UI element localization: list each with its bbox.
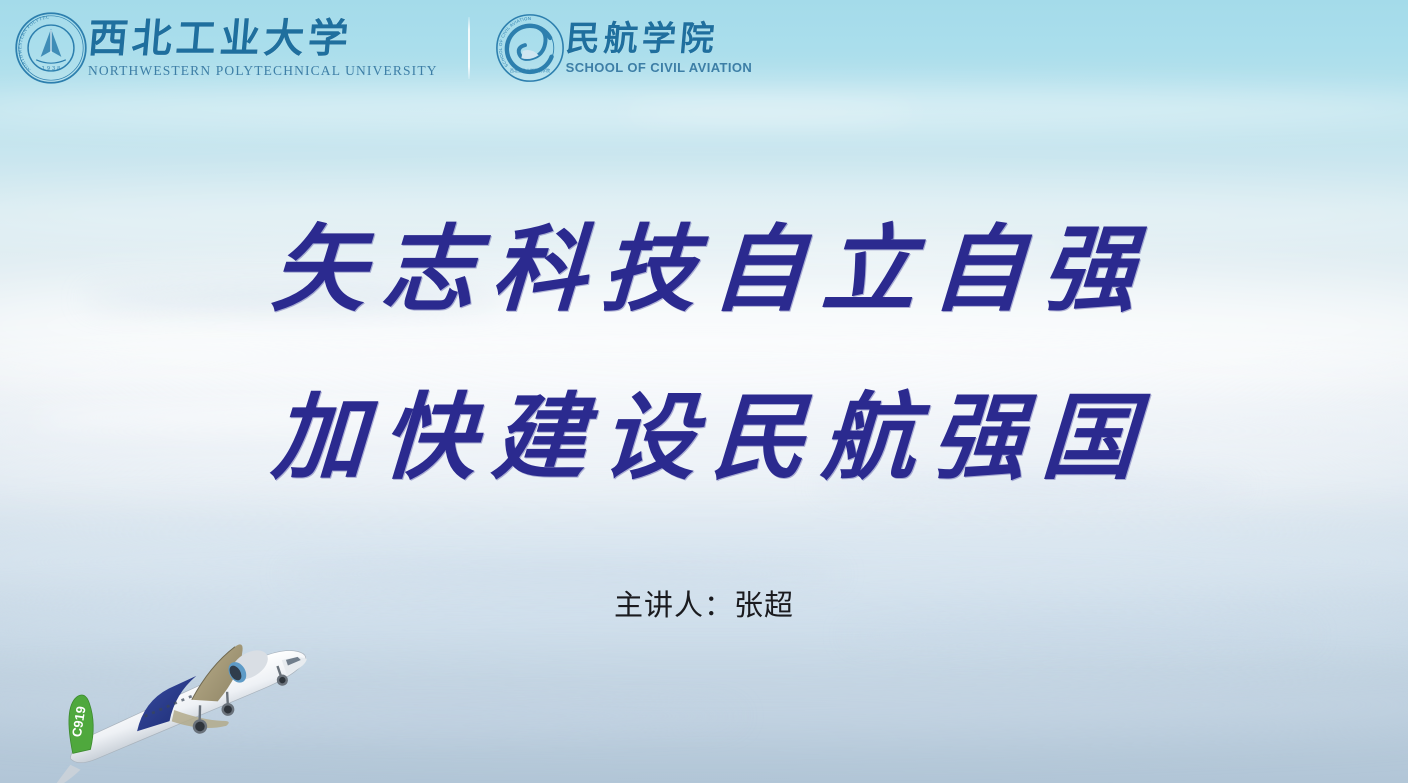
title-line-2: 加快建设民航强国 <box>0 354 1408 522</box>
logo-divider <box>468 17 470 79</box>
university-seal-icon: NORTHWESTERN POLYTECHNICAL １９３８ <box>14 11 88 85</box>
svg-text:１９３８: １９３８ <box>41 66 62 72</box>
logo-sca-text: 民航学院 SCHOOL OF CIVIL AVIATION <box>566 21 753 75</box>
nwpu-name-cn: 西北工业大学 <box>86 18 439 60</box>
civil-aviation-seal-icon: SCHOOL OF CIVIL AVIATION 西北工业大学民航学院 <box>494 12 566 84</box>
sca-name-cn: 民航学院 <box>564 21 754 57</box>
svg-text:西北工业大学民航学院: 西北工业大学民航学院 <box>510 67 550 73</box>
title-slide: NORTHWESTERN POLYTECHNICAL １９３８ 西北工业大学 N… <box>0 0 1408 783</box>
aircraft-c919-image: C919 <box>22 607 342 783</box>
presenter-line: 主讲人：张超 <box>0 586 1408 624</box>
nwpu-name-en: NORTHWESTERN POLYTECHNICAL UNIVERSITY <box>88 63 438 79</box>
logo-nwpu-text: 西北工业大学 NORTHWESTERN POLYTECHNICAL UNIVER… <box>88 18 438 79</box>
logo-nwpu: NORTHWESTERN POLYTECHNICAL １９３８ 西北工业大学 N… <box>14 11 438 85</box>
slide-title: 矢志科技自立自强 加快建设民航强国 <box>0 186 1408 522</box>
sca-name-en: SCHOOL OF CIVIL AVIATION <box>566 60 753 75</box>
logo-school-of-civil-aviation: SCHOOL OF CIVIL AVIATION 西北工业大学民航学院 民航学院… <box>494 12 753 84</box>
title-line-1: 矢志科技自立自强 <box>0 186 1408 354</box>
logo-bar: NORTHWESTERN POLYTECHNICAL １９３８ 西北工业大学 N… <box>0 0 1408 96</box>
